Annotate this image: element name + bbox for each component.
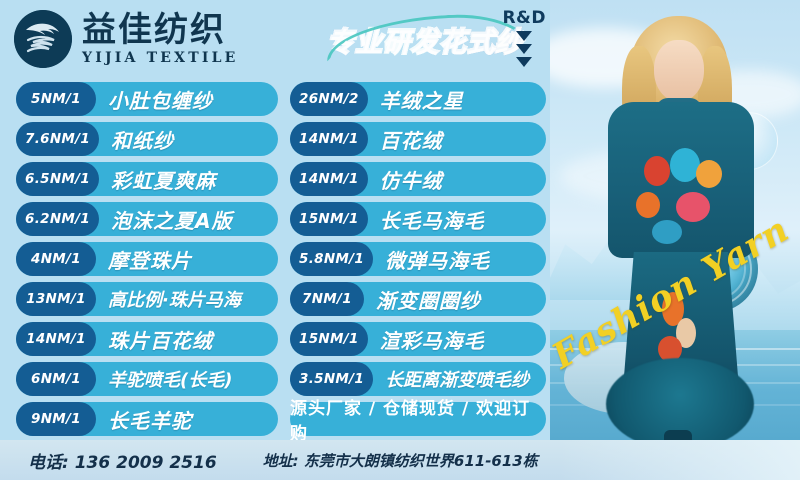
product-spec-badge: 5.8NM/1 xyxy=(290,242,373,276)
product-spec-badge: 26NM/2 xyxy=(290,82,368,116)
model-face xyxy=(654,40,704,102)
embroidery-motif xyxy=(644,156,670,186)
embroidery-motif xyxy=(696,160,722,188)
product-row[interactable]: 3.5NM/1长距离渐变喷毛纱 xyxy=(290,362,546,396)
rnd-label: R&D xyxy=(502,8,546,28)
product-spec-badge: 14NM/1 xyxy=(290,122,368,156)
product-row[interactable]: 5.8NM/1微弹马海毛 xyxy=(290,242,546,276)
product-row[interactable]: 15NM/1渲彩马海毛 xyxy=(290,322,546,356)
embroidery-motif xyxy=(652,220,682,244)
product-photo xyxy=(550,0,800,480)
product-spec-badge: 14NM/1 xyxy=(16,322,96,356)
product-row[interactable]: 6.5NM/1彩虹夏爽麻 xyxy=(16,162,278,196)
product-spec-badge: 3.5NM/1 xyxy=(290,362,373,396)
dragon-globe-emblem-icon xyxy=(14,10,72,68)
product-spec-badge: 6.5NM/1 xyxy=(16,162,99,196)
product-name: 长毛羊驼 xyxy=(108,405,192,434)
embroidery-motif xyxy=(676,192,710,222)
brand-name-en: YIJIA TEXTILE xyxy=(82,51,239,65)
product-name: 摩登珠片 xyxy=(108,245,192,274)
product-row[interactable]: 9NM/1长毛羊驼 xyxy=(16,402,278,436)
product-row[interactable]: 4NM/1摩登珠片 xyxy=(16,242,278,276)
brand-logo: 益佳纺织 YIJIA TEXTILE xyxy=(14,10,239,68)
product-row[interactable]: 6.2NM/1泡沫之夏A版 xyxy=(16,202,278,236)
product-spec-badge: 7.6NM/1 xyxy=(16,122,99,156)
brand-name-cn: 益佳纺织 xyxy=(82,13,239,47)
product-spec-badge: 6.2NM/1 xyxy=(16,202,99,236)
product-row[interactable]: 7.6NM/1和纸纱 xyxy=(16,122,278,156)
product-name: 高比例·珠片马海 xyxy=(108,286,241,312)
product-name: 小肚包缠纱 xyxy=(108,85,213,114)
product-name: 彩虹夏爽麻 xyxy=(111,165,216,194)
product-name: 羊绒之星 xyxy=(380,85,464,114)
poster: 益佳纺织 YIJIA TEXTILE 专业研发花式纱 R&D 5NM/1小肚包缠… xyxy=(0,0,800,480)
triangle-down-icon xyxy=(516,57,532,67)
product-spec-badge: 13NM/1 xyxy=(16,282,96,316)
product-spec-badge: 15NM/1 xyxy=(290,322,368,356)
header: 益佳纺织 YIJIA TEXTILE 专业研发花式纱 R&D xyxy=(0,0,560,80)
footer-sheen xyxy=(560,440,800,480)
product-spec-badge: 5NM/1 xyxy=(16,82,96,116)
product-spec-badge: 7NM/1 xyxy=(290,282,364,316)
product-row[interactable]: 14NM/1百花绒 xyxy=(290,122,546,156)
product-spec-badge: 4NM/1 xyxy=(16,242,96,276)
tagline-pill: 源头厂家 / 仓储现货 / 欢迎订购 xyxy=(290,402,546,436)
brand-text: 益佳纺织 YIJIA TEXTILE xyxy=(82,13,239,65)
product-name: 和纸纱 xyxy=(111,125,174,154)
product-row[interactable]: 26NM/2羊绒之星 xyxy=(290,82,546,116)
product-spec-badge: 14NM/1 xyxy=(290,162,368,196)
product-list-right: 26NM/2羊绒之星14NM/1百花绒14NM/1仿牛绒15NM/1长毛马海毛5… xyxy=(290,82,546,436)
product-row[interactable]: 13NM/1高比例·珠片马海 xyxy=(16,282,278,316)
product-row[interactable]: 15NM/1长毛马海毛 xyxy=(290,202,546,236)
product-name: 泡沫之夏A版 xyxy=(111,205,232,234)
product-row[interactable]: 6NM/1羊驼喷毛(长毛) xyxy=(16,362,278,396)
product-spec-badge: 9NM/1 xyxy=(16,402,96,436)
tagline-text: 源头厂家 / 仓储现货 / 欢迎订购 xyxy=(290,394,546,444)
fashion-model xyxy=(578,6,774,480)
product-name: 百花绒 xyxy=(380,125,443,154)
product-name: 长距离渐变喷毛纱 xyxy=(385,366,529,392)
product-spec-badge: 15NM/1 xyxy=(290,202,368,236)
contact-address: 地址: 东莞市大朗镇纺织世界611-613栋 xyxy=(263,450,538,471)
embroidery-motif xyxy=(636,192,660,218)
footer: 电话: 136 2009 2516 地址: 东莞市大朗镇纺织世界611-613栋 xyxy=(0,440,800,480)
product-spec-badge: 6NM/1 xyxy=(16,362,96,396)
product-row[interactable]: 14NM/1珠片百花绒 xyxy=(16,322,278,356)
product-name: 渲彩马海毛 xyxy=(380,325,485,354)
rnd-mark: R&D xyxy=(502,8,546,67)
product-row[interactable]: 5NM/1小肚包缠纱 xyxy=(16,82,278,116)
product-name: 渐变圈圈纱 xyxy=(376,285,481,314)
triangle-down-icon xyxy=(516,31,532,41)
product-row[interactable]: 7NM/1渐变圈圈纱 xyxy=(290,282,546,316)
product-name: 仿牛绒 xyxy=(380,165,443,194)
contact-phone[interactable]: 电话: 136 2009 2516 xyxy=(28,448,217,473)
product-name: 微弹马海毛 xyxy=(385,245,490,274)
product-row[interactable]: 14NM/1仿牛绒 xyxy=(290,162,546,196)
product-name: 羊驼喷毛(长毛) xyxy=(108,366,232,392)
slogan-banner: 专业研发花式纱 xyxy=(320,14,530,64)
product-list-left: 5NM/1小肚包缠纱7.6NM/1和纸纱6.5NM/1彩虹夏爽麻6.2NM/1泡… xyxy=(16,82,278,442)
product-name: 长毛马海毛 xyxy=(380,205,485,234)
product-name: 珠片百花绒 xyxy=(108,325,213,354)
triangle-down-icon xyxy=(516,44,532,54)
